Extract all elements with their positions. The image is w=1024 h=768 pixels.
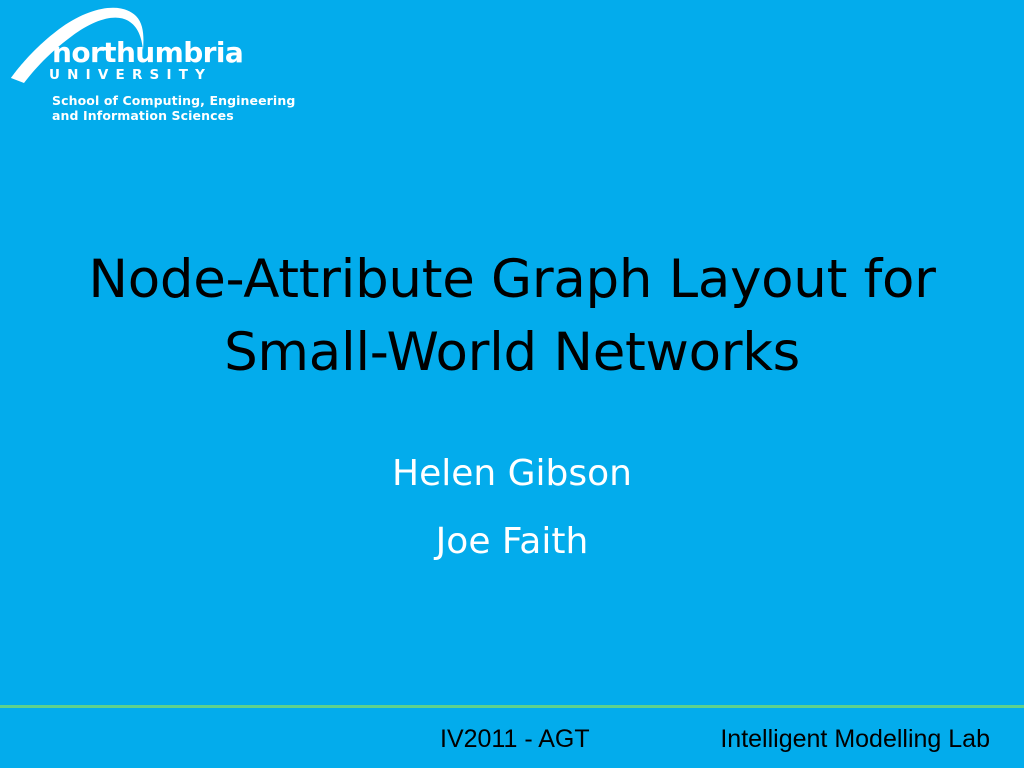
footer-event-label: IV2011 - AGT	[440, 724, 590, 754]
logo-school-line-2: and Information Sciences	[52, 108, 342, 123]
logo-school-line-1: School of Computing, Engineering	[52, 93, 342, 108]
slide-title-line-2: Small-World Networks	[62, 316, 962, 389]
footer-lab-label: Intelligent Modelling Lab	[720, 724, 990, 754]
logo-university-subtitle: UNIVERSITY	[49, 68, 312, 83]
footer-divider	[0, 705, 1024, 708]
northumbria-logo: northumbria UNIVERSITY School of Computi…	[0, 0, 340, 135]
slide-footer: IV2011 - AGT Intelligent Modelling Lab	[0, 712, 1024, 768]
author-name: Helen Gibson	[62, 440, 962, 508]
logo-wordmark: northumbria UNIVERSITY	[52, 38, 312, 98]
slide-title-line-1: Node-Attribute Graph Layout for	[62, 243, 962, 316]
slide-title: Node-Attribute Graph Layout for Small-Wo…	[62, 243, 962, 389]
logo-school-name: School of Computing, Engineering and Inf…	[52, 93, 342, 123]
author-name: Joe Faith	[62, 508, 962, 576]
author-list: Helen Gibson Joe Faith	[62, 440, 962, 576]
logo-university-name: northumbria	[52, 38, 312, 67]
title-slide: northumbria UNIVERSITY School of Computi…	[0, 0, 1024, 768]
